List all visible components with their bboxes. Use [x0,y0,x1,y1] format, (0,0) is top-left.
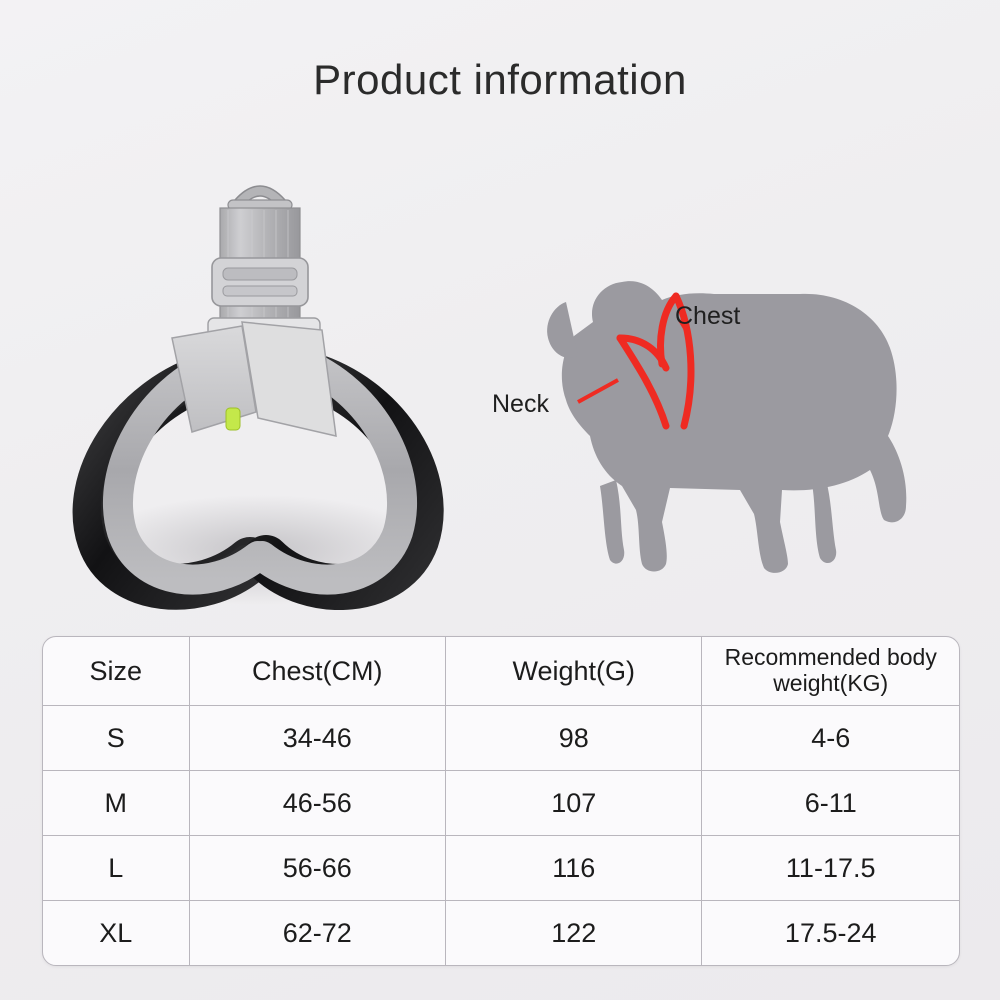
dog-measurement-diagram: Neck Chest [470,230,950,590]
d-ring [228,186,292,210]
header-size: Size [43,637,190,705]
cell-size: M [43,771,190,835]
product-photo [60,150,460,610]
cell-size: XL [43,901,190,965]
cell-body-weight: 17.5-24 [702,901,958,965]
dog-back-leg [812,480,836,563]
page-title: Product information [0,56,1000,104]
table-row: S 34-46 98 4-6 [43,706,959,771]
cell-weight: 107 [446,771,702,835]
product-information-page: Product information [0,0,1000,1000]
cell-weight: 116 [446,836,702,900]
harness-illustration [60,150,460,610]
size-table: Size Chest(CM) Weight(G) Recommended bod… [42,636,960,966]
cell-body-weight: 6-11 [702,771,958,835]
green-accent-clip [226,408,240,430]
header-chest: Chest(CM) [190,637,446,705]
cell-weight: 122 [446,901,702,965]
label-chest: Chest [675,302,740,331]
buckle [212,258,308,306]
table-row: XL 62-72 122 17.5-24 [43,901,959,965]
right-chest-pad [242,322,336,436]
table-row: M 46-56 107 6-11 [43,771,959,836]
table-header-row: Size Chest(CM) Weight(G) Recommended bod… [43,637,959,706]
cell-weight: 98 [446,706,702,770]
dog-front-leg [600,480,624,564]
label-neck: Neck [492,390,549,419]
cell-size: S [43,706,190,770]
header-recommended-body-weight: Recommended body weight(KG) [702,637,958,705]
dog-ear [547,302,578,358]
cell-chest: 62-72 [190,901,446,965]
cell-chest: 34-46 [190,706,446,770]
cell-chest: 56-66 [190,836,446,900]
cell-body-weight: 11-17.5 [702,836,958,900]
cell-body-weight: 4-6 [702,706,958,770]
cell-size: L [43,836,190,900]
table-row: L 56-66 116 11-17.5 [43,836,959,901]
cell-chest: 46-56 [190,771,446,835]
header-weight: Weight(G) [446,637,702,705]
left-chest-pad [172,326,256,432]
